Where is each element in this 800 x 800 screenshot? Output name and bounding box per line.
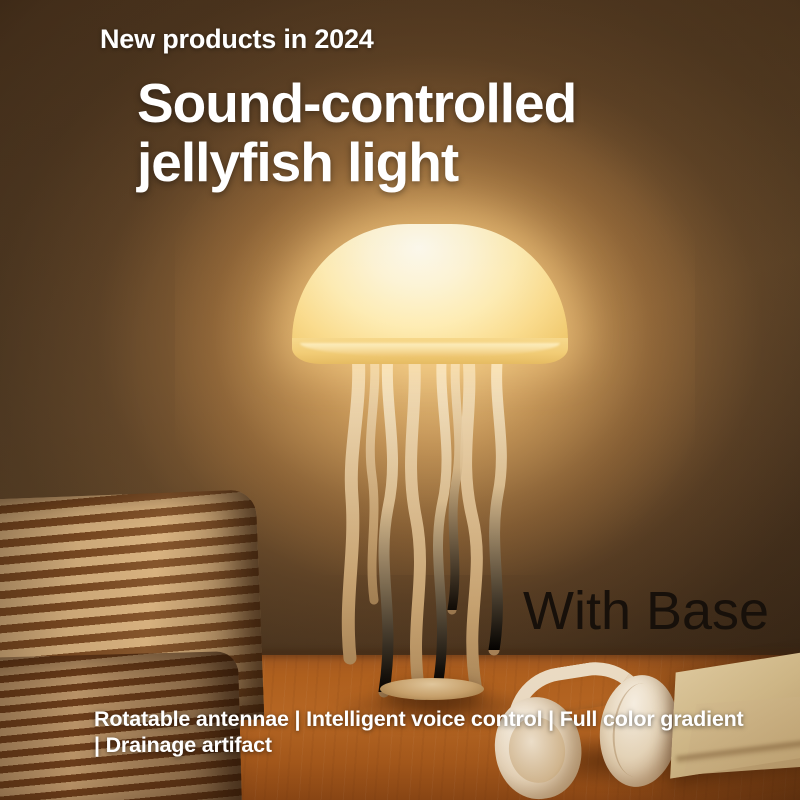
lamp-base-stand: [380, 678, 484, 700]
page-title: Sound-controlled jellyfish light: [137, 74, 737, 193]
jellyfish-tentacles: [292, 348, 572, 700]
ad-scene: New products in 2024 Sound-controlled je…: [0, 0, 800, 800]
eyebrow-text: New products in 2024: [100, 24, 374, 55]
feature-list-text: Rotatable antennae | Intelligent voice c…: [94, 706, 754, 758]
with-base-badge: With Base: [523, 580, 769, 642]
